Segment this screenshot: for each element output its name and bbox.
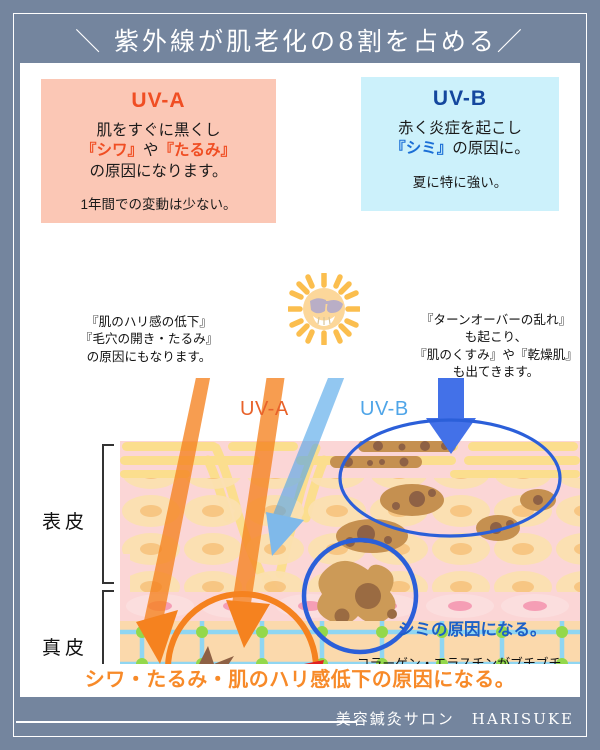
uvb-info-box: UV-B 赤く炎症を起こし 『シミ』の原因に。 夏に特に強い。: [361, 77, 559, 211]
uva-line4: 1年間での変動は少ない。: [41, 193, 276, 213]
caption-right: 『ターンオーバーの乱れ』 も起こり、 『肌のくすみ』や『乾燥肌』 も出てきます。: [392, 312, 580, 382]
sun-icon: [288, 273, 360, 345]
epidermis-bracket: [102, 444, 114, 584]
uva-heading: UV-A: [41, 89, 276, 113]
uvb-emph-shimi: 『シミ』: [390, 140, 452, 157]
ray-label-uva: UV-A: [240, 398, 289, 421]
annotation-shimi: シミの原因になる。: [398, 616, 547, 640]
content-card: UV-A 肌をすぐに黒くし 『シワ』や『たるみ』 の原因になります。 1年間での…: [20, 63, 580, 696]
uvb-line2-rest: の原因に。: [452, 140, 530, 157]
footer-brand: 美容鍼灸サロン HARISUKE: [336, 708, 574, 729]
infographic-root: ＼ 紫外線が肌老化の8割を占める／: [0, 0, 600, 750]
uvb-line2: 『シミ』の原因に。: [361, 139, 559, 159]
uva-info-box: UV-A 肌をすぐに黒くし 『シワ』や『たるみ』 の原因になります。 1年間での…: [41, 79, 276, 223]
uva-conj: や: [143, 142, 159, 159]
uvb-line1: 赤く炎症を起こし: [361, 119, 559, 139]
bottom-slogan: シワ・たるみ・肌のハリ感低下の原因になる。: [20, 664, 580, 697]
uva-emph-tarumi: 『たるみ』: [159, 142, 237, 159]
footer-rule: [16, 721, 356, 723]
uva-emph-shiwa: 『シワ』: [81, 142, 143, 159]
uva-line1: 肌をすぐに黒くし: [41, 121, 276, 141]
uva-line2: 『シワ』や『たるみ』: [41, 141, 276, 161]
uva-line3: の原因になります。: [41, 162, 276, 182]
uvb-line3: 夏に特に強い。: [361, 171, 559, 191]
layer-label-dermis: 真皮: [42, 633, 88, 660]
ray-label-uvb: UV-B: [360, 398, 409, 421]
page-title: ＼ 紫外線が肌老化の8割を占める／: [20, 22, 580, 62]
uvb-heading: UV-B: [361, 87, 559, 111]
skin-cross-section-diagram: [120, 378, 580, 696]
layer-label-epidermis: 表皮: [42, 507, 88, 534]
caption-left: 『肌のハリ感の低下』 『毛穴の開き・たるみ』 の原因にもなります。: [38, 314, 260, 366]
